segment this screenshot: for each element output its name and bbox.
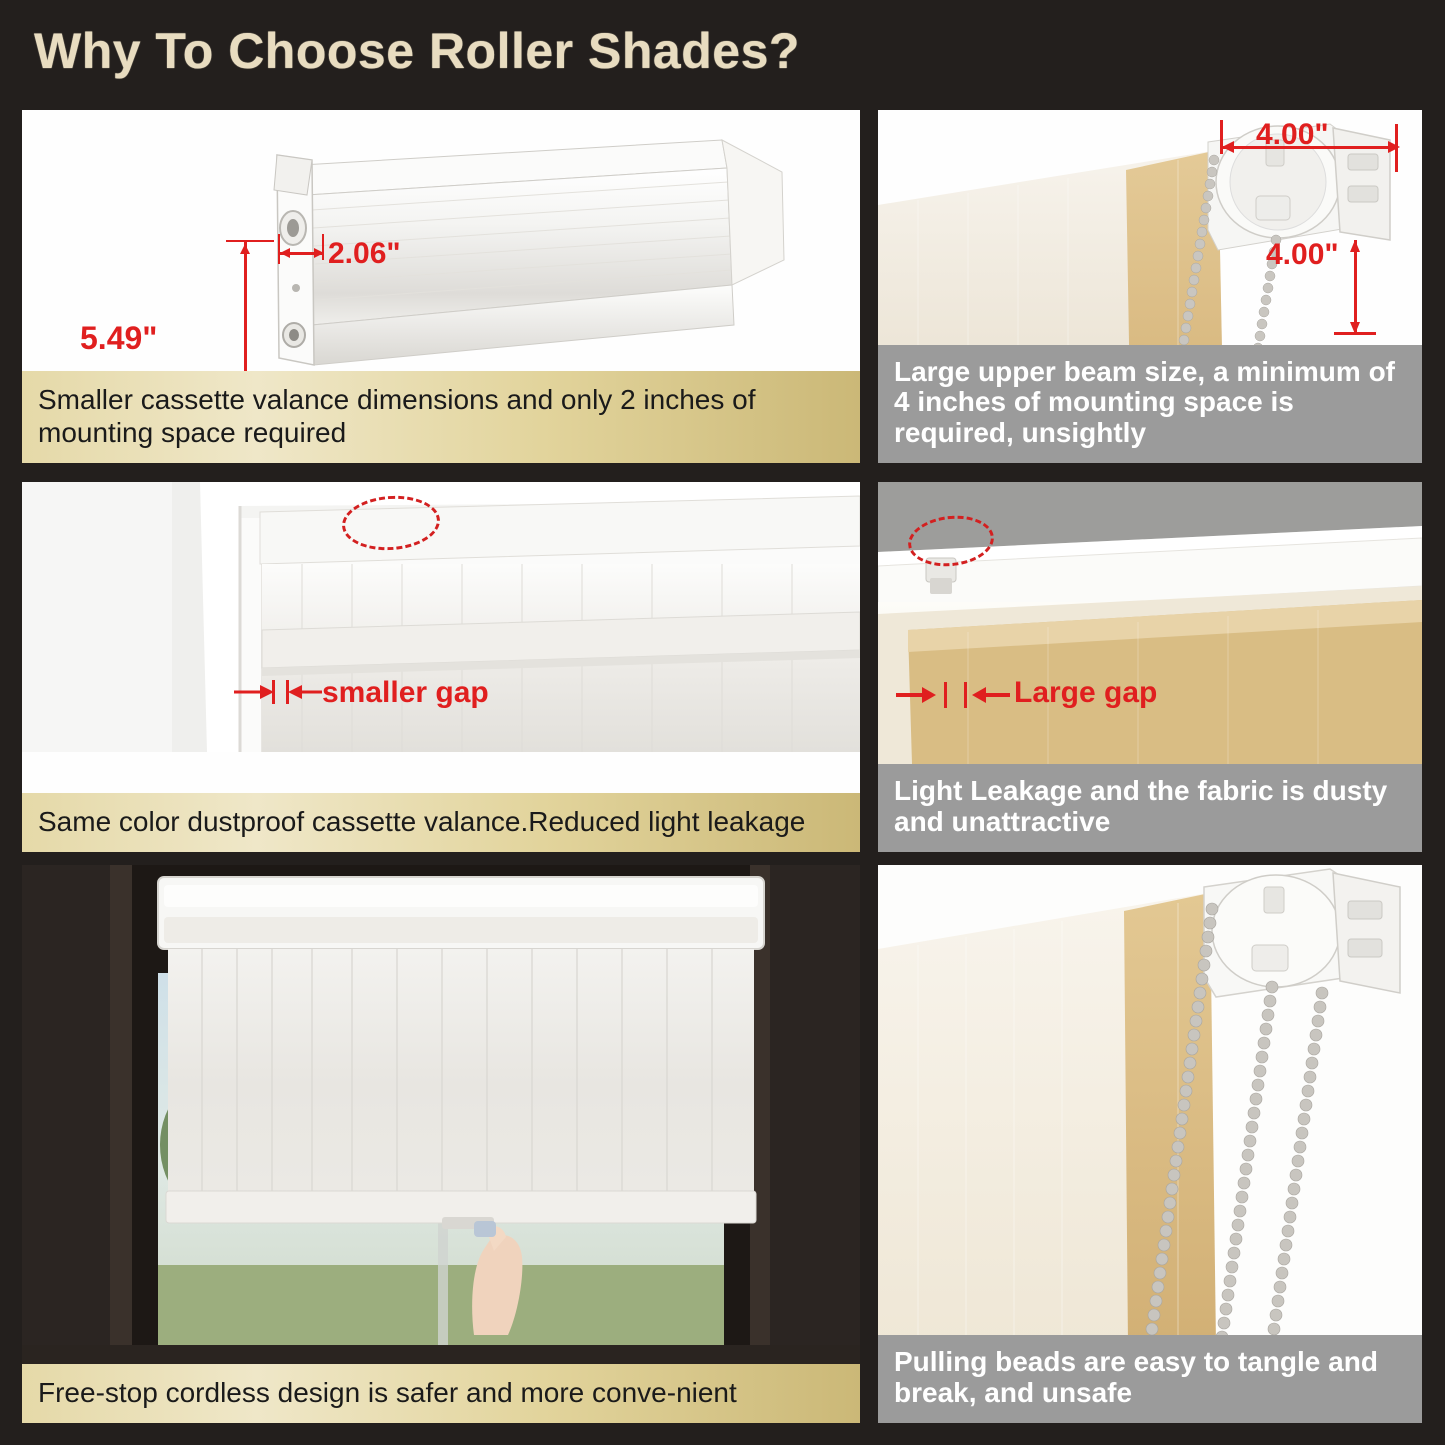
caption-cassette-valance: Smaller cassette valance dimensions and … xyxy=(22,371,860,463)
caption-large-upper-beam: Large upper beam size, a minimum of 4 in… xyxy=(878,345,1422,463)
photo-cordless-design xyxy=(22,865,860,1423)
caption-light-leakage: Light Leakage and the fabric is dusty an… xyxy=(878,764,1422,852)
dim-height-label: 5.49" xyxy=(80,320,157,357)
dim-width-arrows xyxy=(272,244,332,264)
room-window-illustration xyxy=(22,865,860,1345)
panel-cordless-design: Free-stop cordless design is safer and m… xyxy=(22,865,860,1423)
bead-chain xyxy=(878,865,1422,1345)
beam-depth-label: 4.00" xyxy=(1266,238,1339,272)
gap-arrows xyxy=(894,682,1014,708)
gap-callout-label: smaller gap xyxy=(322,676,489,710)
window-frame-illustration xyxy=(22,482,860,752)
panel-pulling-beads: Pulling beads are easy to tangle and bre… xyxy=(878,865,1422,1423)
panel-dustproof-cassette-valance: smaller gap Same color dustproof cassett… xyxy=(22,482,860,852)
gap-callout-label: Large gap xyxy=(1014,676,1157,710)
caption-cordless-design: Free-stop cordless design is safer and m… xyxy=(22,1364,860,1423)
gap-arrows xyxy=(230,680,330,704)
panel-light-leakage: Large gap Light Leakage and the fabric i… xyxy=(878,482,1422,852)
caption-dustproof-valance: Same color dustproof cassette valance.Re… xyxy=(22,793,860,852)
infographic-page: Why To Choose Roller Shades? xyxy=(0,0,1445,1445)
panel-large-upper-beam: 4.00" 4.00" Large upper beam size, a min… xyxy=(878,110,1422,463)
dim-width-label: 2.06" xyxy=(328,237,401,271)
beam-width-label: 4.00" xyxy=(1256,118,1329,152)
caption-pulling-beads: Pulling beads are easy to tangle and bre… xyxy=(878,1335,1422,1423)
page-title: Why To Choose Roller Shades? xyxy=(34,22,800,80)
panel-cassette-valance-dimensions: 2.06" 5.49" Smaller cassette valance dim… xyxy=(22,110,860,463)
beam-depth-arrows xyxy=(1346,236,1366,340)
